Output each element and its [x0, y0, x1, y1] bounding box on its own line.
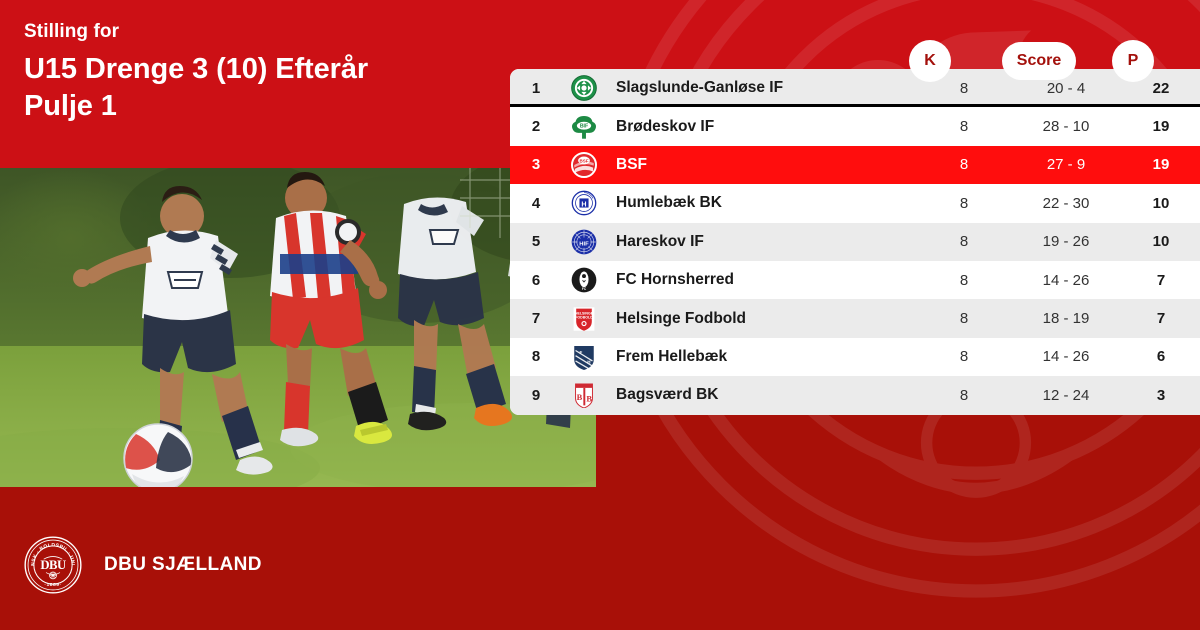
- table-row[interactable]: 9 B B Bagsværd BK 8 12 - 24 3: [510, 376, 1200, 414]
- column-header-matches[interactable]: K: [909, 40, 951, 82]
- row-matches: 8: [918, 195, 1010, 212]
- fc-hornsherred-logo: FC: [562, 267, 606, 293]
- svg-text:·1889·: ·1889·: [44, 582, 61, 588]
- row-score: 14 - 26: [1010, 348, 1122, 365]
- row-points: 10: [1122, 195, 1200, 212]
- dbu-seal-logo: · DANSK · BOLDSPIL · UNION · DBU ·1889·: [24, 536, 82, 594]
- column-header-points[interactable]: P: [1112, 40, 1154, 82]
- row-position: 9: [510, 387, 562, 404]
- row-points: 10: [1122, 233, 1200, 250]
- row-position: 7: [510, 310, 562, 327]
- table-row[interactable]: 8 F H Frem Hellebæk 8 14 - 26 6: [510, 338, 1200, 376]
- row-position: 8: [510, 348, 562, 365]
- row-matches: 8: [918, 387, 1010, 404]
- row-score: 12 - 24: [1010, 387, 1122, 404]
- svg-text:F: F: [579, 350, 582, 355]
- column-header-score[interactable]: Score: [1002, 42, 1076, 80]
- standings-graphic: Stilling for U15 Drenge 3 (10) Efterår P…: [0, 0, 1200, 630]
- row-position: 5: [510, 233, 562, 250]
- row-team-name: Helsinge Fodbold: [606, 310, 918, 328]
- row-position: 4: [510, 195, 562, 212]
- column-header-badges: K Score P: [0, 0, 1200, 168]
- row-score: 19 - 26: [1010, 233, 1122, 250]
- humlebaek-bk-logo: H: [562, 190, 606, 216]
- helsinge-fodbold-logo: HELSINGE FODBOLD: [562, 306, 606, 332]
- row-matches: 8: [918, 348, 1010, 365]
- row-points: 6: [1122, 348, 1200, 365]
- table-row[interactable]: 6 FC FC Hornsherred 8 14 - 26 7: [510, 261, 1200, 299]
- footer-brand-label: DBU SJÆLLAND: [104, 554, 262, 576]
- table-row[interactable]: 7 HELSINGE FODBOLD Helsinge Fodbold 8 18…: [510, 299, 1200, 337]
- row-matches: 8: [918, 272, 1010, 289]
- svg-text:B: B: [577, 393, 583, 403]
- row-matches: 8: [918, 310, 1010, 327]
- svg-text:HIF: HIF: [579, 241, 589, 247]
- table-row[interactable]: 4 H Humlebæk BK 8 22 - 30 10: [510, 184, 1200, 222]
- row-team-name: Hareskov IF: [606, 233, 918, 251]
- bagsvaerd-bk-logo: B B: [562, 382, 606, 408]
- svg-text:H: H: [587, 359, 590, 364]
- row-team-name: Frem Hellebæk: [606, 348, 918, 366]
- svg-text:B: B: [586, 394, 592, 404]
- row-team-name: Bagsværd BK: [606, 386, 918, 404]
- row-position: 6: [510, 272, 562, 289]
- row-score: 14 - 26: [1010, 272, 1122, 289]
- table-row[interactable]: 5 HIF Hareskov IF 8 19 - 26 10: [510, 223, 1200, 261]
- frem-hellebaek-logo: F H: [562, 344, 606, 370]
- row-matches: 8: [918, 233, 1010, 250]
- row-team-name: Humlebæk BK: [606, 194, 918, 212]
- svg-text:FC: FC: [582, 287, 587, 291]
- row-score: 22 - 30: [1010, 195, 1122, 212]
- svg-text:DBU: DBU: [40, 558, 66, 572]
- row-team-name: FC Hornsherred: [606, 271, 918, 289]
- youth-football-match-photo: [0, 168, 596, 487]
- row-points: 3: [1122, 387, 1200, 404]
- row-points: 7: [1122, 310, 1200, 327]
- footer-bar: · DANSK · BOLDSPIL · UNION · DBU ·1889· …: [0, 500, 1200, 630]
- hareskov-if-logo: HIF: [562, 229, 606, 255]
- row-score: 18 - 19: [1010, 310, 1122, 327]
- svg-text:H: H: [581, 201, 586, 209]
- svg-text:FODBOLD: FODBOLD: [575, 315, 593, 319]
- row-points: 7: [1122, 272, 1200, 289]
